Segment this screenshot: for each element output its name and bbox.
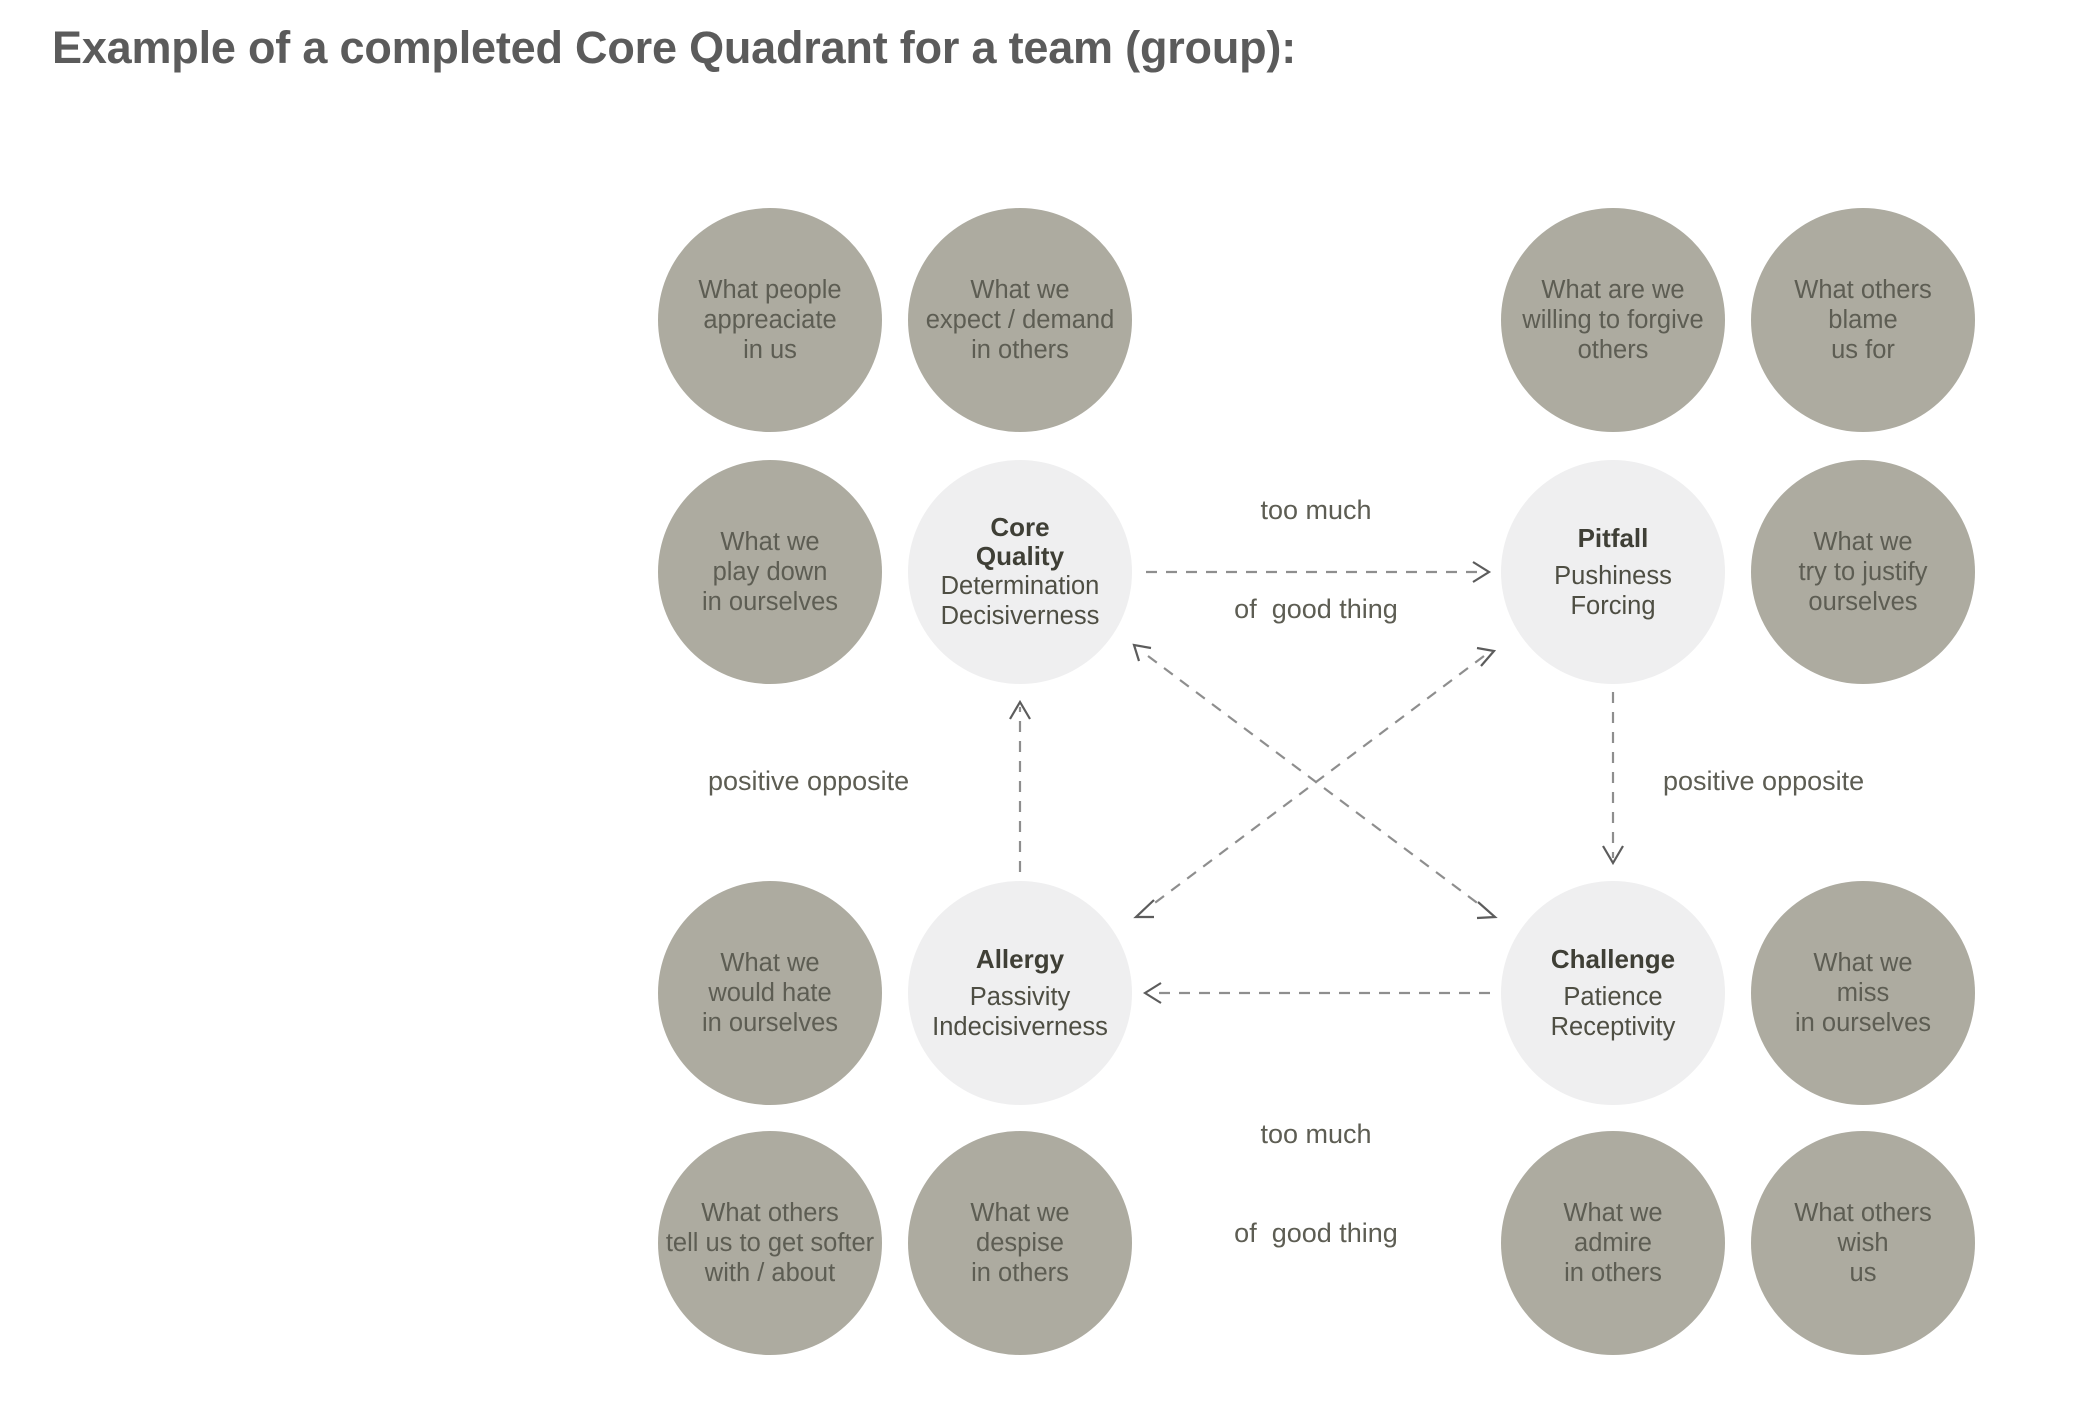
satellite-line: ourselves [1808, 587, 1917, 617]
connector-label-line: too much [1166, 494, 1466, 527]
quadrant-value: Decisiverness [941, 601, 1100, 631]
quadrant-value: Forcing [1570, 591, 1655, 621]
satellite-line: despise [976, 1228, 1064, 1258]
quadrant-allergy: Allergy Passivity Indecisiverness [908, 881, 1132, 1105]
satellite-challenge-bottom-left: What we admire in others [1501, 1131, 1725, 1355]
satellite-line: What we [1813, 948, 1912, 978]
satellite-line: play down [713, 557, 828, 587]
satellite-line: with / about [705, 1258, 835, 1288]
quadrant-core-quality: Core Quality Determination Decisiverness [908, 460, 1132, 684]
connector-label-bottom-too-much: too much of good thing [1166, 1052, 1466, 1316]
arrow-pitfall-to-challenge [1603, 692, 1623, 863]
quadrant-value: Determination [941, 571, 1100, 601]
satellite-line: would hate [708, 978, 831, 1008]
satellite-challenge-right: What we miss in ourselves [1751, 881, 1975, 1105]
satellite-line: wish [1837, 1228, 1888, 1258]
quadrant-title: Challenge [1551, 945, 1675, 974]
connector-label-right-positive-opposite: positive opposite [1663, 765, 2003, 798]
satellite-line: in ourselves [702, 1008, 838, 1038]
arrow-challenge-to-allergy [1145, 983, 1490, 1003]
satellite-line: What we [1813, 527, 1912, 557]
satellite-line: What we [720, 527, 819, 557]
satellite-allergy-bottom-right: What we despise in others [908, 1131, 1132, 1355]
satellite-line: in ourselves [1795, 1008, 1931, 1038]
quadrant-title: Quality [976, 542, 1064, 571]
satellite-line: What people [698, 275, 841, 305]
satellite-line: miss [1837, 978, 1889, 1008]
satellite-line: willing to forgive [1522, 305, 1703, 335]
satellite-line: What are we [1541, 275, 1684, 305]
quadrant-pitfall: Pitfall Pushiness Forcing [1501, 460, 1725, 684]
satellite-line: admire [1574, 1228, 1652, 1258]
satellite-core-quality-left: What we play down in ourselves [658, 460, 882, 684]
satellite-line: blame [1828, 305, 1897, 335]
satellite-line: expect / demand [926, 305, 1115, 335]
quadrant-value: Receptivity [1551, 1012, 1676, 1042]
satellite-line: What we [1563, 1198, 1662, 1228]
satellite-line: try to justify [1799, 557, 1928, 587]
satellite-line: tell us to get softer [666, 1228, 874, 1258]
satellite-line: What others [1794, 1198, 1931, 1228]
connector-label-line: of good thing [1166, 593, 1466, 626]
satellite-pitfall-right: What we try to justify ourselves [1751, 460, 1975, 684]
satellite-line: What we [970, 275, 1069, 305]
satellite-line: appreaciate [703, 305, 836, 335]
satellite-allergy-left: What we would hate in ourselves [658, 881, 882, 1105]
connector-label-line: of good thing [1166, 1217, 1466, 1250]
quadrant-title: Pitfall [1578, 524, 1649, 553]
connector-label-left-positive-opposite: positive opposite [708, 765, 1048, 798]
satellite-line: in us [743, 335, 797, 365]
quadrant-value: Indecisiverness [932, 1012, 1108, 1042]
quadrant-title: Allergy [976, 945, 1064, 974]
connector-label-line: too much [1166, 1118, 1466, 1151]
satellite-line: What others [701, 1198, 838, 1228]
satellite-core-quality-top-right: What we expect / demand in others [908, 208, 1132, 432]
satellite-line: in others [971, 335, 1069, 365]
satellite-core-quality-top-left: What people appreaciate in us [658, 208, 882, 432]
satellite-allergy-bottom-left: What others tell us to get softer with /… [658, 1131, 882, 1355]
core-quadrant-diagram: What people appreaciate in us What we ex… [0, 0, 2082, 1403]
satellite-line: in ourselves [702, 587, 838, 617]
satellite-line: in others [971, 1258, 1069, 1288]
quadrant-value: Patience [1563, 982, 1662, 1012]
satellite-pitfall-top-left: What are we willing to forgive others [1501, 208, 1725, 432]
satellite-line: us [1850, 1258, 1877, 1288]
satellite-line: What we [970, 1198, 1069, 1228]
quadrant-value: Passivity [970, 982, 1071, 1012]
satellite-line: What we [720, 948, 819, 978]
quadrant-value: Pushiness [1554, 561, 1672, 591]
connector-label-top-too-much: too much of good thing [1166, 428, 1466, 692]
quadrant-title: Core [990, 513, 1049, 542]
satellite-challenge-bottom-right: What others wish us [1751, 1131, 1975, 1355]
satellite-line: us for [1831, 335, 1895, 365]
satellite-line: others [1578, 335, 1649, 365]
satellite-line: in others [1564, 1258, 1662, 1288]
satellite-line: What others [1794, 275, 1931, 305]
satellite-pitfall-top-right: What others blame us for [1751, 208, 1975, 432]
quadrant-challenge: Challenge Patience Receptivity [1501, 881, 1725, 1105]
